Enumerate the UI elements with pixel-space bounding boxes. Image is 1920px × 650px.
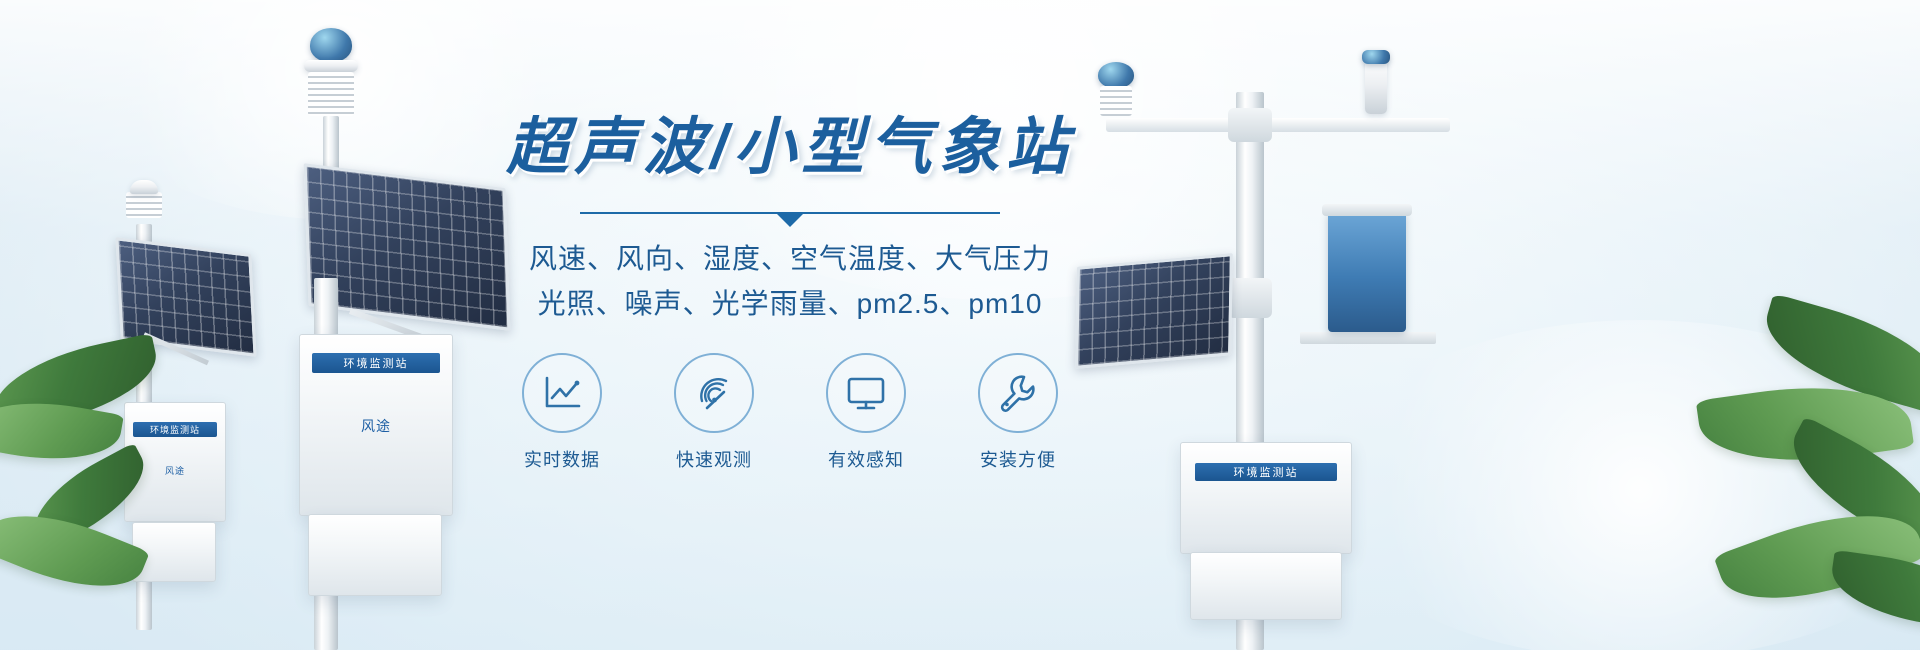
line-chart-icon [522, 353, 602, 433]
mast-collar [1228, 278, 1272, 318]
instrument-shelf [1300, 332, 1436, 344]
feature-line: 光照、噪声、光学雨量、pm2.5、pm10 [440, 281, 1140, 326]
enclosure-box: 环境监测站 [1180, 442, 1352, 554]
feature-label: 实时数据 [514, 446, 610, 472]
divider-triangle-icon [777, 214, 803, 227]
wrench-icon [978, 353, 1058, 433]
enclosure-brand: 风途 [300, 416, 452, 436]
enclosure-nameplate: 环境监测站 [1195, 463, 1338, 481]
crossbar-arm [1106, 118, 1450, 132]
ultrasonic-sensor-dome [310, 28, 352, 62]
enclosure-box: 环境监测站 风途 [299, 334, 453, 516]
wind-vane-top [1362, 50, 1390, 64]
radiation-shield-icon [126, 192, 162, 218]
sensor-head [130, 180, 158, 194]
leaf-decoration [1827, 550, 1920, 630]
feature-item-realtime-data[interactable]: 实时数据 [514, 353, 610, 472]
feature-label: 有效感知 [818, 446, 914, 472]
enclosure-nameplate: 环境监测站 [312, 353, 440, 373]
rain-gauge [1328, 210, 1406, 332]
feature-line: 风速、风向、湿度、空气温度、大气压力 [440, 236, 1140, 281]
weather-station-banner: 环境监测站 风途 环境监测站 风途 [0, 0, 1920, 650]
wind-vane-sensor [1365, 56, 1387, 114]
mast-collar [1228, 108, 1272, 142]
banner-content: 超声波/小型气象站 风速、风向、湿度、空气温度、大气压力 光照、噪声、光学雨量、… [440, 96, 1140, 472]
feature-label: 安装方便 [970, 446, 1066, 472]
radiation-shield-icon [308, 72, 354, 116]
feature-item-easy-install[interactable]: 安装方便 [970, 353, 1066, 472]
wireless-signal-icon [674, 353, 754, 433]
feature-list: 风速、风向、湿度、空气温度、大气压力 光照、噪声、光学雨量、pm2.5、pm10 [440, 236, 1140, 327]
ultrasonic-anemometer-icon [1098, 62, 1134, 88]
left-small-weather-station: 环境监测站 风途 [110, 180, 320, 650]
rain-gauge-rim [1322, 204, 1412, 216]
monitor-icon [826, 353, 906, 433]
feature-label: 快速观测 [666, 446, 762, 472]
feature-item-fast-observation[interactable]: 快速观测 [666, 353, 762, 472]
lower-enclosure-box [308, 514, 442, 596]
enclosure-nameplate: 环境监测站 [133, 422, 217, 437]
title-divider [580, 212, 1000, 214]
feature-item-effective-sensing[interactable]: 有效感知 [818, 353, 914, 472]
sensor-cap [304, 60, 358, 72]
feature-icon-row: 实时数据 快速观测 [440, 353, 1140, 472]
page-title: 超声波/小型气象站 [440, 96, 1140, 186]
lower-enclosure-box [1190, 552, 1342, 620]
